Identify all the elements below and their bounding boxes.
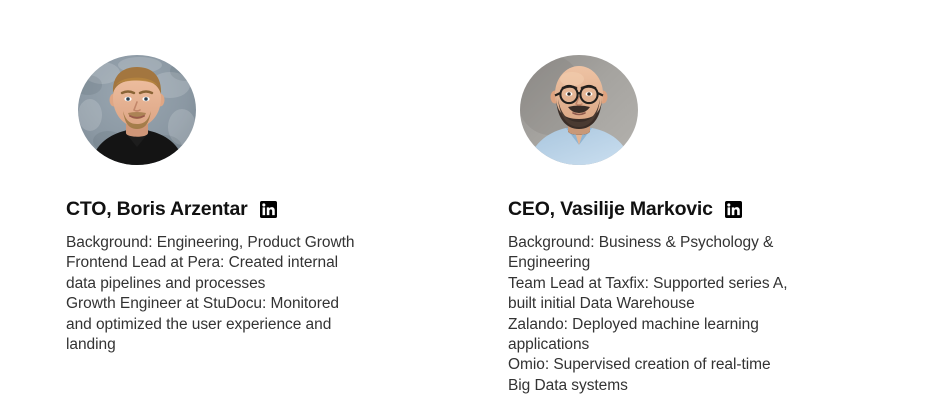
avatar-photo-boris (78, 55, 196, 165)
bio-line: and optimized the user experience and (66, 315, 418, 335)
bio-line: Big Data systems (508, 376, 858, 396)
bio-line: landing (66, 335, 418, 355)
bio-line: Background: Business & Psychology & (508, 233, 858, 253)
bio-line: applications (508, 335, 858, 355)
bio-line: Omio: Supervised creation of real-time (508, 355, 858, 375)
bio-line: built initial Data Warehouse (508, 294, 858, 314)
member-name: CEO, Vasilije Markovic (508, 196, 713, 222)
member-bio: Background: Engineering, Product Growth … (66, 233, 418, 355)
member-name-row: CEO, Vasilije Markovic (508, 196, 742, 222)
bio-line: Frontend Lead at Pera: Created internal (66, 253, 418, 273)
bio-line: data pipelines and processes (66, 274, 418, 294)
linkedin-icon[interactable] (260, 201, 277, 218)
bio-line: Background: Engineering, Product Growth (66, 233, 418, 253)
linkedin-icon[interactable] (725, 201, 742, 218)
bio-line: Team Lead at Taxfix: Supported series A, (508, 274, 858, 294)
bio-line: Engineering (508, 253, 858, 273)
avatar (78, 55, 196, 165)
member-bio: Background: Business & Psychology & Engi… (508, 233, 858, 396)
member-name-row: CTO, Boris Arzentar (66, 196, 277, 222)
bio-line: Zalando: Deployed machine learning (508, 315, 858, 335)
bio-line: Growth Engineer at StuDocu: Monitored (66, 294, 418, 314)
avatar (520, 55, 638, 165)
avatar-photo-vasilije (520, 55, 638, 165)
member-name: CTO, Boris Arzentar (66, 196, 248, 222)
team-section: CTO, Boris Arzentar Background: Engineer… (0, 0, 948, 412)
